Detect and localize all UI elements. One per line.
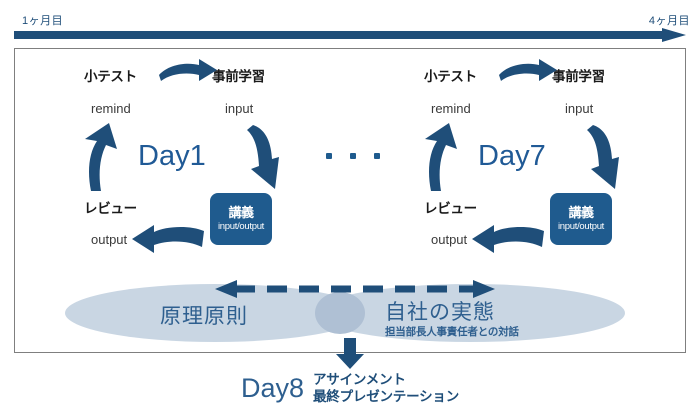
lecture-title: 講義 xyxy=(568,206,593,220)
timeline-arrow-icon xyxy=(14,28,686,42)
venn-right-label: 自社の実態 xyxy=(385,296,495,326)
arrow-test-to-study-icon xyxy=(157,59,219,85)
venn-left-label: 原理原則 xyxy=(160,300,248,330)
step-title-review: レビュー xyxy=(84,197,137,217)
final-line-1: アサインメント xyxy=(313,372,459,389)
final-line-2: 最終プレゼンテーション xyxy=(313,389,459,406)
arrow-down-icon xyxy=(335,338,365,370)
lecture-subtitle: input/output xyxy=(558,221,604,232)
step-subtitle-output: output xyxy=(91,232,127,247)
arrow-test-to-study-icon xyxy=(497,59,559,85)
arrow-lecture-to-review-icon xyxy=(470,221,546,259)
timeline-start-label: 1ヶ月目 xyxy=(22,12,63,28)
arrow-study-to-lecture-icon xyxy=(245,123,293,195)
arrow-lecture-to-review-icon xyxy=(130,221,206,259)
arrow-review-to-test-icon xyxy=(415,123,459,193)
final-day-description: アサインメント 最終プレゼンテーション xyxy=(313,372,459,406)
arrow-review-to-test-icon xyxy=(75,123,119,193)
step-subtitle-input: input xyxy=(225,101,253,116)
step-title-review: レビュー xyxy=(424,197,477,217)
step-subtitle-input: input xyxy=(565,101,593,116)
lecture-title: 講義 xyxy=(228,206,253,220)
cycle-day-label: Day1 xyxy=(138,140,206,173)
lecture-box[interactable]: 講義 input/output xyxy=(550,193,612,245)
diagram-canvas: 1ヶ月目 4ヶ月目 小テスト 事前学習 remind input レビュー ou… xyxy=(0,0,700,420)
final-day-row: Day8 アサインメント 最終プレゼンテーション xyxy=(0,372,700,406)
step-title-test: 小テスト xyxy=(424,65,477,85)
cycle-day1: 小テスト 事前学習 remind input レビュー output Day1 … xyxy=(62,55,312,265)
lecture-box[interactable]: 講義 input/output xyxy=(210,193,272,245)
timeline-end-label: 4ヶ月目 xyxy=(649,12,690,28)
step-subtitle-remind: remind xyxy=(91,101,131,116)
venn-right-sublabel: 担当部長人事責任者との対話 xyxy=(385,324,519,339)
final-day-label: Day8 xyxy=(241,375,304,402)
step-subtitle-remind: remind xyxy=(431,101,471,116)
cycle-day7: 小テスト 事前学習 remind input レビュー output Day7 … xyxy=(402,55,652,265)
step-title-study: 事前学習 xyxy=(212,65,265,85)
ellipsis-separator xyxy=(326,153,386,163)
step-title-test: 小テスト xyxy=(84,65,137,85)
cycle-day-label: Day7 xyxy=(478,140,546,173)
step-title-study: 事前学習 xyxy=(552,65,605,85)
arrow-study-to-lecture-icon xyxy=(585,123,633,195)
step-subtitle-output: output xyxy=(431,232,467,247)
lecture-subtitle: input/output xyxy=(218,221,264,232)
